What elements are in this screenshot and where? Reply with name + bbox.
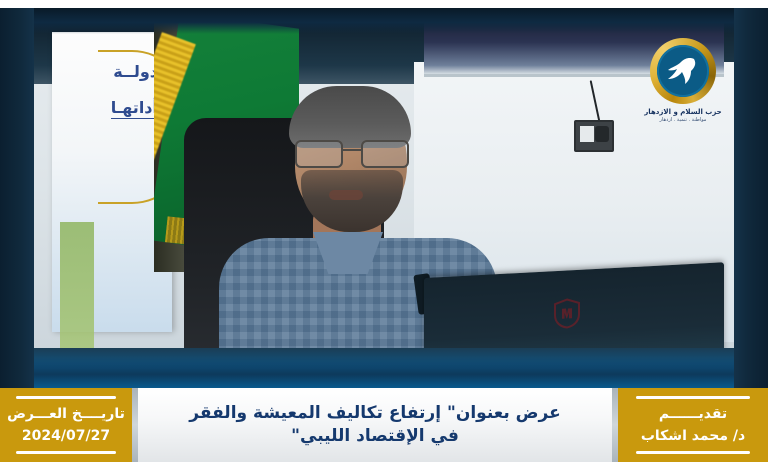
- eyeglasses-icon: [293, 140, 411, 164]
- presentation-title-line2: في الإقتصاد الليبي": [291, 425, 459, 448]
- presenter-panel-rule-bottom: [636, 451, 750, 454]
- logo-badge: [650, 38, 716, 104]
- top-white-strip: [0, 0, 768, 8]
- date-panel-label: تاريــــخ العـــرض: [7, 406, 125, 422]
- date-panel-value: 2024/07/27: [22, 428, 110, 444]
- title-panel: عرض بعنوان" إرتفاع تكاليف المعيشة والفقر…: [138, 388, 612, 462]
- presenter-panel-value: د/ محمد اشكاب: [641, 428, 745, 444]
- socket-plate: [580, 126, 594, 142]
- presenter-panel-rule-top: [636, 396, 750, 399]
- logo-party-name: حزب السلام و الازدهار: [630, 108, 734, 116]
- party-logo: حزب السلام و الازدهار مواطنة . تنمية . ا…: [630, 38, 734, 148]
- socket-plug: [595, 126, 609, 142]
- presentation-title-line1: عرض بعنوان" إرتفاع تكاليف المعيشة والفقر: [189, 402, 560, 425]
- date-panel: تاريــــخ العـــرض 2024/07/27: [0, 388, 132, 462]
- screenshot-root: دولــة أداتهـا: [0, 0, 768, 462]
- power-socket-icon: [574, 120, 614, 152]
- date-panel-rule-bottom: [16, 451, 116, 454]
- presenter-panel-label: تقديــــــم: [659, 406, 727, 422]
- dove-icon: [664, 54, 702, 88]
- msi-dragon-shield-icon: [554, 298, 580, 329]
- presenter-panel: تقديــــــم د/ محمد اشكاب: [618, 388, 768, 462]
- poster-text-line2: أداتهـا: [111, 98, 158, 119]
- lens-right: [361, 140, 409, 168]
- lower-third-banner: تاريــــخ العـــرض 2024/07/27 عرض بعنوان…: [0, 388, 768, 462]
- logo-slogan: مواطنة . تنمية . ازدهار: [630, 117, 734, 123]
- vignette-bottom: [0, 358, 768, 388]
- vignette-right: [734, 8, 768, 388]
- room-scene: دولــة أداتهـا: [34, 22, 734, 382]
- video-stage[interactable]: دولــة أداتهـا: [0, 8, 768, 388]
- poster-text-line1: دولــة: [113, 62, 158, 81]
- speaker-mouth: [329, 190, 363, 200]
- lens-left: [295, 140, 343, 168]
- glasses-bridge: [341, 149, 363, 151]
- date-panel-rule-top: [16, 396, 116, 399]
- speaker-hair: [289, 86, 411, 148]
- vignette-left: [0, 8, 34, 388]
- vignette-top: [0, 8, 768, 34]
